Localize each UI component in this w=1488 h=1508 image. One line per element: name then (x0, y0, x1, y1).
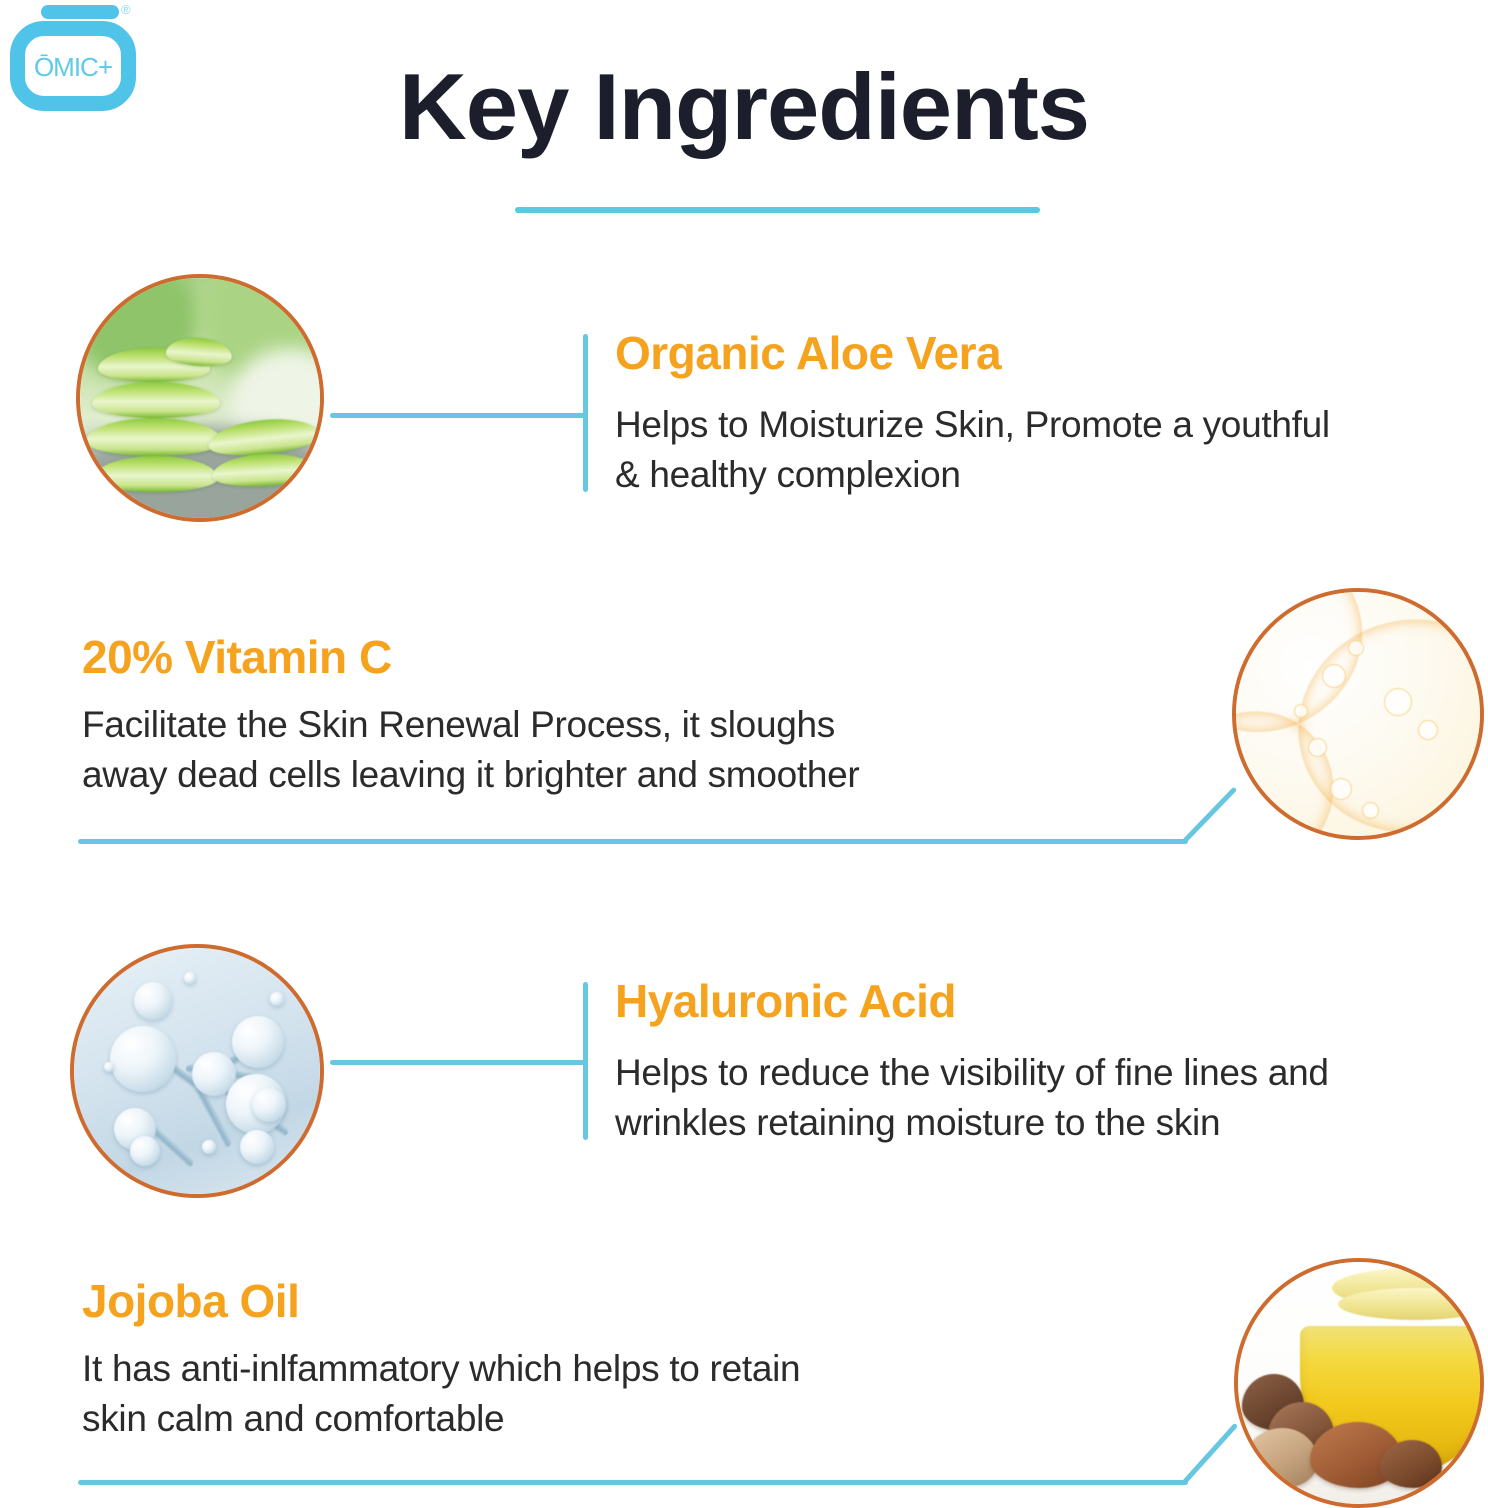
ingredient-description-vitamin-c: Facilitate the Skin Renewal Process, it … (82, 700, 859, 799)
ingredient-description-aloe-vera: Helps to Moisturize Skin, Promote a yout… (615, 400, 1330, 499)
aloe-vera-artwork (80, 278, 320, 518)
ingredient-image-vitamin-c (1232, 588, 1484, 840)
description-line: & healthy complexion (615, 450, 1330, 500)
connector-line-vitamin-c-diagonal (1182, 787, 1237, 844)
registered-trademark-icon: ® (121, 3, 131, 16)
description-line: Helps to Moisturize Skin, Promote a yout… (615, 400, 1330, 450)
molecule-artwork (74, 948, 320, 1194)
jojoba-oil-artwork (1238, 1262, 1480, 1504)
ingredient-title-jojoba-oil: Jojoba Oil (82, 1278, 299, 1324)
ingredient-title-aloe-vera: Organic Aloe Vera (615, 330, 1001, 376)
connector-line-aloe-horizontal (330, 413, 585, 418)
description-line: Helps to reduce the visibility of fine l… (615, 1048, 1329, 1098)
ingredient-image-jojoba-oil (1234, 1258, 1484, 1508)
ingredient-title-hyaluronic-acid: Hyaluronic Acid (615, 978, 956, 1024)
ingredient-title-vitamin-c: 20% Vitamin C (82, 634, 392, 680)
description-line: away dead cells leaving it brighter and … (82, 750, 859, 800)
connector-line-hyaluronic-horizontal (330, 1060, 585, 1065)
connector-line-hyaluronic-vertical (583, 982, 588, 1140)
ingredient-description-jojoba-oil: It has anti-inlfammatory which helps to … (82, 1344, 800, 1443)
description-line: wrinkles retaining moisture to the skin (615, 1098, 1329, 1148)
title-underline-rule (515, 207, 1040, 213)
orange-citrus-artwork (1236, 592, 1480, 836)
description-line: skin calm and comfortable (82, 1394, 800, 1444)
connector-line-jojoba-diagonal (1182, 1423, 1238, 1484)
description-line: It has anti-inlfammatory which helps to … (82, 1344, 800, 1394)
description-line: Facilitate the Skin Renewal Process, it … (82, 700, 859, 750)
connector-line-vitamin-c-horizontal (78, 839, 1188, 844)
connector-line-jojoba-horizontal (78, 1480, 1188, 1485)
ingredient-image-aloe-vera (76, 274, 324, 522)
connector-line-aloe-vertical (583, 334, 588, 492)
logo-bar-icon (41, 5, 119, 19)
page-title: Key Ingredients (0, 58, 1488, 157)
ingredient-description-hyaluronic-acid: Helps to reduce the visibility of fine l… (615, 1048, 1329, 1147)
ingredient-image-hyaluronic-acid (70, 944, 324, 1198)
